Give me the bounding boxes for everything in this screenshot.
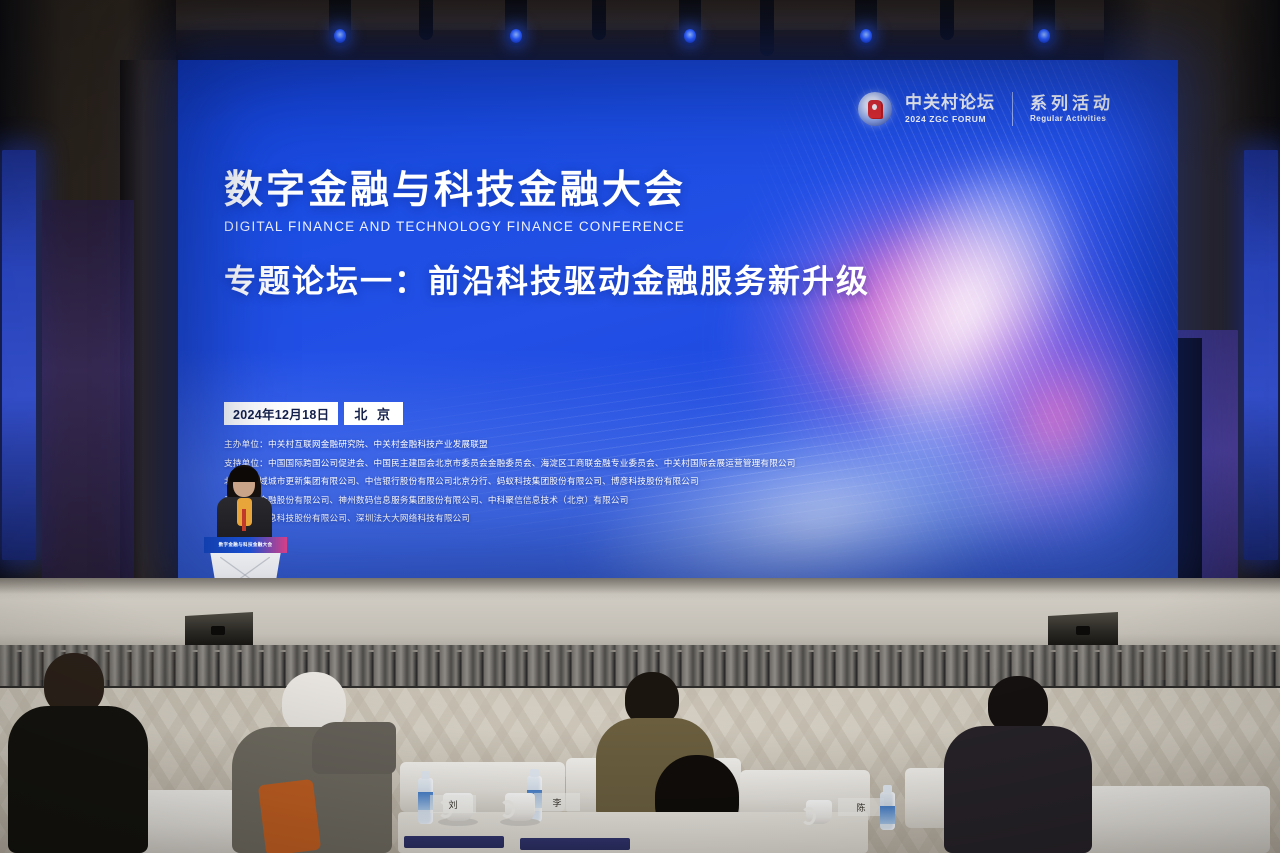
conference-hall-scene: 中关村论坛 2024 ZGC FORUM 系列活动 Regular Activi… bbox=[0, 0, 1280, 853]
speaker-lanyard bbox=[242, 509, 246, 531]
document bbox=[520, 838, 630, 850]
stage-light-icon bbox=[679, 0, 701, 46]
stage-light-icon bbox=[419, 0, 433, 40]
light-beam bbox=[334, 29, 346, 43]
ceramic-mug bbox=[505, 793, 535, 821]
stage-light-icon bbox=[592, 0, 606, 40]
screen-vignette bbox=[178, 60, 1178, 579]
stage-light-icon bbox=[1033, 0, 1055, 46]
stage-monitor-left bbox=[185, 612, 253, 645]
person-arm bbox=[312, 722, 396, 774]
person-scarf bbox=[258, 779, 321, 853]
person-body bbox=[944, 726, 1092, 853]
stage-monitor-right bbox=[1048, 612, 1118, 645]
stage-deck-shadow bbox=[0, 578, 1280, 594]
ceramic-mug bbox=[806, 800, 832, 824]
audience-sofa bbox=[1070, 786, 1270, 853]
stage-light-icon bbox=[940, 0, 954, 40]
monitor-port bbox=[211, 626, 225, 635]
light-beam bbox=[860, 29, 872, 43]
name-placard: 陈 bbox=[838, 798, 884, 816]
lectern-banner-text: 数字金融与科技金融大会 bbox=[219, 542, 273, 548]
stage-light-icon bbox=[329, 0, 351, 46]
stage-light-icon bbox=[760, 0, 774, 56]
light-beam bbox=[684, 29, 696, 43]
stage-light-icon bbox=[855, 0, 877, 46]
name-placard: 李 bbox=[534, 793, 580, 811]
lectern-banner: 数字金融与科技金融大会 bbox=[204, 537, 287, 553]
speaker-hair-top bbox=[230, 467, 258, 482]
water-bottle bbox=[880, 792, 895, 830]
name-placard: 刘 bbox=[430, 795, 476, 813]
left-wall-light-strip bbox=[2, 150, 36, 560]
left-wall-panel bbox=[42, 200, 134, 580]
led-screen-content: 中关村论坛 2024 ZGC FORUM 系列活动 Regular Activi… bbox=[178, 60, 1178, 579]
light-beam bbox=[1038, 29, 1050, 43]
person-body bbox=[8, 706, 148, 853]
right-doorway bbox=[1176, 338, 1202, 598]
right-wall-light-strip bbox=[1244, 150, 1278, 560]
led-screen: 中关村论坛 2024 ZGC FORUM 系列活动 Regular Activi… bbox=[178, 60, 1178, 579]
document bbox=[404, 836, 504, 848]
light-beam bbox=[510, 29, 522, 43]
stage-light-icon bbox=[505, 0, 527, 46]
monitor-port bbox=[1076, 626, 1090, 635]
